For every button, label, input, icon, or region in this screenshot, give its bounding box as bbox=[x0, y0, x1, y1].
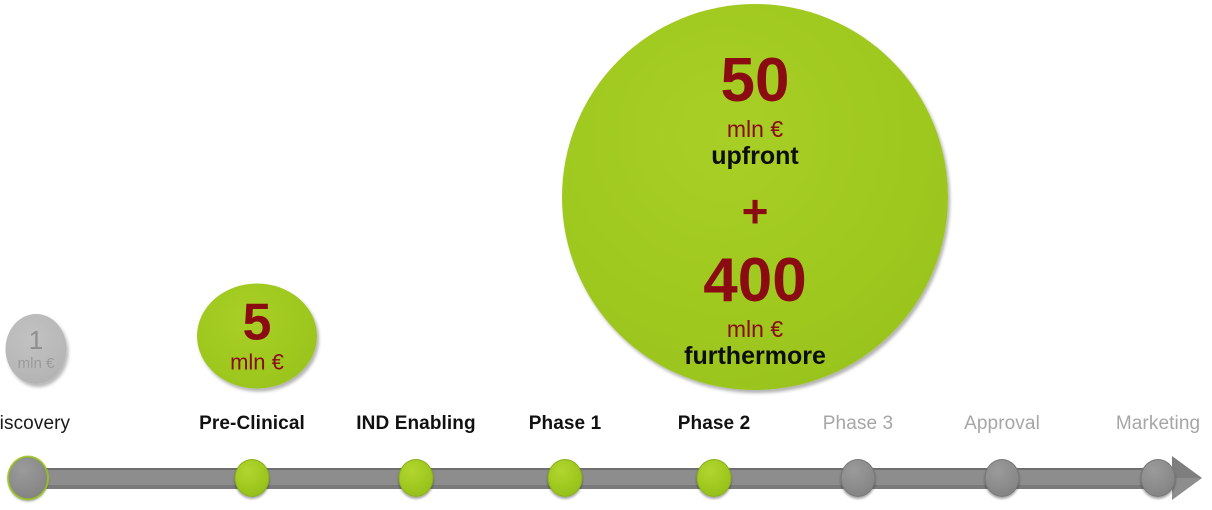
bubble-unit: mln € bbox=[230, 351, 284, 375]
plus-operator-icon: + bbox=[742, 188, 769, 234]
bubble-amount: 5 bbox=[243, 298, 272, 348]
stage-node-marketing[interactable] bbox=[1141, 459, 1176, 497]
stage-label-approval[interactable]: Approval bbox=[964, 413, 1040, 435]
stage-label-discovery[interactable]: Discovery bbox=[0, 413, 70, 435]
stage-node-phase-2[interactable] bbox=[697, 459, 732, 497]
stage-node-phase-3[interactable] bbox=[841, 459, 876, 497]
timeline-infographic: 1 mln € 5 mln € 50 mln € upfront + 400 m… bbox=[0, 0, 1212, 510]
value-bubble-deal[interactable]: 50 mln € upfront + 400 mln € furthermore bbox=[562, 4, 948, 390]
stage-label-phase-2[interactable]: Phase 2 bbox=[678, 413, 751, 435]
stage-label-phase-1[interactable]: Phase 1 bbox=[529, 413, 602, 435]
stage-node-phase-1[interactable] bbox=[548, 459, 583, 497]
milestones-amount: 400 bbox=[703, 250, 806, 312]
bubble-unit: mln € bbox=[18, 355, 55, 372]
stage-label-phase-3[interactable]: Phase 3 bbox=[823, 413, 893, 435]
upfront-amount: 50 bbox=[721, 50, 790, 112]
value-bubble-preclinical[interactable]: 5 mln € bbox=[197, 284, 317, 389]
deal-milestones-group: 400 mln € furthermore bbox=[684, 250, 826, 370]
milestones-unit: mln € bbox=[727, 316, 783, 342]
bubble-amount: 1 bbox=[29, 327, 43, 353]
stage-node-ind-enabling[interactable] bbox=[399, 459, 434, 497]
timeline-arrow-icon bbox=[1172, 456, 1202, 500]
stage-node-pre-clinical[interactable] bbox=[235, 459, 270, 497]
stage-label-marketing[interactable]: Marketing bbox=[1116, 413, 1200, 435]
stage-label-pre-clinical[interactable]: Pre-Clinical bbox=[199, 413, 305, 435]
value-bubble-discovery[interactable]: 1 mln € bbox=[6, 314, 67, 384]
stage-label-ind-enabling[interactable]: IND Enabling bbox=[356, 413, 475, 435]
stage-node-approval[interactable] bbox=[985, 459, 1020, 497]
deal-upfront-group: 50 mln € upfront bbox=[711, 50, 798, 170]
milestones-caption: furthermore bbox=[684, 342, 826, 370]
upfront-caption: upfront bbox=[711, 142, 798, 170]
upfront-unit: mln € bbox=[727, 116, 783, 142]
stage-node-discovery[interactable] bbox=[8, 457, 48, 500]
